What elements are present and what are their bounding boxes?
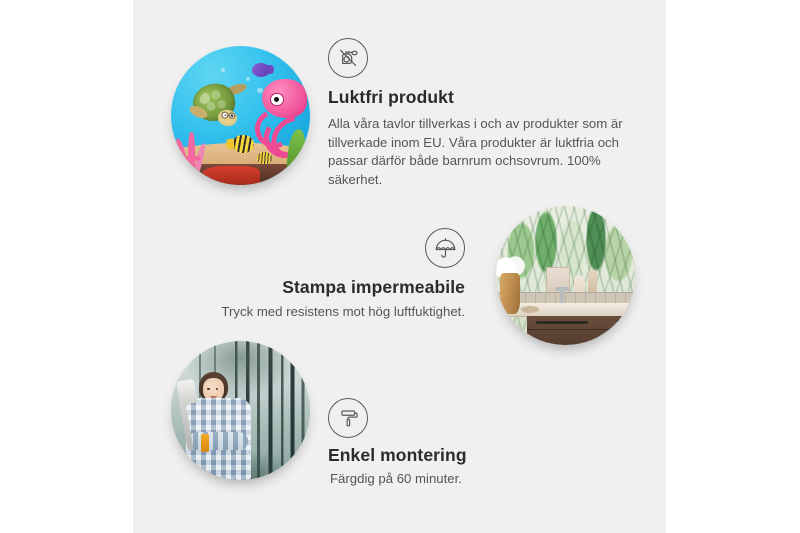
feature-odourless: Luktfri produkt Alla våra tavlor tillver… [328, 38, 628, 190]
woman-painter-forest-photo [171, 341, 310, 480]
bubble-icon [246, 77, 250, 81]
gold-vase [500, 273, 519, 315]
feature-waterproof-title: Stampa impermeabile [213, 277, 465, 298]
wood-vanity-cabinet [527, 316, 635, 345]
product-features-panel: Luktfri produkt Alla våra tavlor tillver… [133, 0, 666, 533]
paint-roller-icon [328, 398, 368, 438]
woman-eye [216, 388, 219, 390]
feature-waterproof: Stampa impermeabile Tryck med resistens … [213, 228, 465, 322]
coral-branch [183, 156, 201, 161]
faucet-icon [560, 287, 564, 305]
octopus-eye [270, 93, 284, 107]
forest-photo-inner [171, 341, 310, 480]
woman-figure [179, 372, 262, 480]
umbrella-icon [425, 228, 465, 268]
feature-mounting-description: Färgdig på 60 minuter. [330, 470, 608, 489]
bubble-icon [221, 68, 224, 71]
bathroom-leaf-wallpaper-photo [496, 206, 635, 345]
screenshot-root: Luktfri produkt Alla våra tavlor tillver… [0, 0, 800, 533]
woman-crossed-arms [188, 432, 248, 449]
no-fragrance-spray-icon [328, 38, 368, 78]
sea-turtle-icon [189, 82, 253, 132]
feature-waterproof-description: Tryck med resistens mot hög luftfuktighe… [213, 303, 465, 322]
paint-roller-grip [201, 434, 209, 451]
purple-fish-icon [252, 63, 270, 77]
feature-odourless-description: Alla våra tavlor tillverkas i och av pro… [328, 115, 628, 190]
underwater-kids-scene-photo [171, 46, 310, 185]
turtle-eye [228, 112, 236, 119]
red-fish-foreground [202, 166, 260, 185]
feature-odourless-title: Luktfri produkt [328, 87, 628, 108]
feature-mounting-title: Enkel montering [328, 445, 608, 466]
ocean-photo-inner [171, 46, 310, 185]
feature-mounting: Enkel montering Färgdig på 60 minuter. [328, 398, 608, 489]
octopus-head [262, 79, 308, 118]
woman-eye [207, 388, 210, 390]
bathroom-photo-inner [496, 206, 635, 345]
cabinet-handle [617, 320, 623, 338]
turtle-head [217, 109, 238, 128]
soap-dish [521, 306, 539, 313]
